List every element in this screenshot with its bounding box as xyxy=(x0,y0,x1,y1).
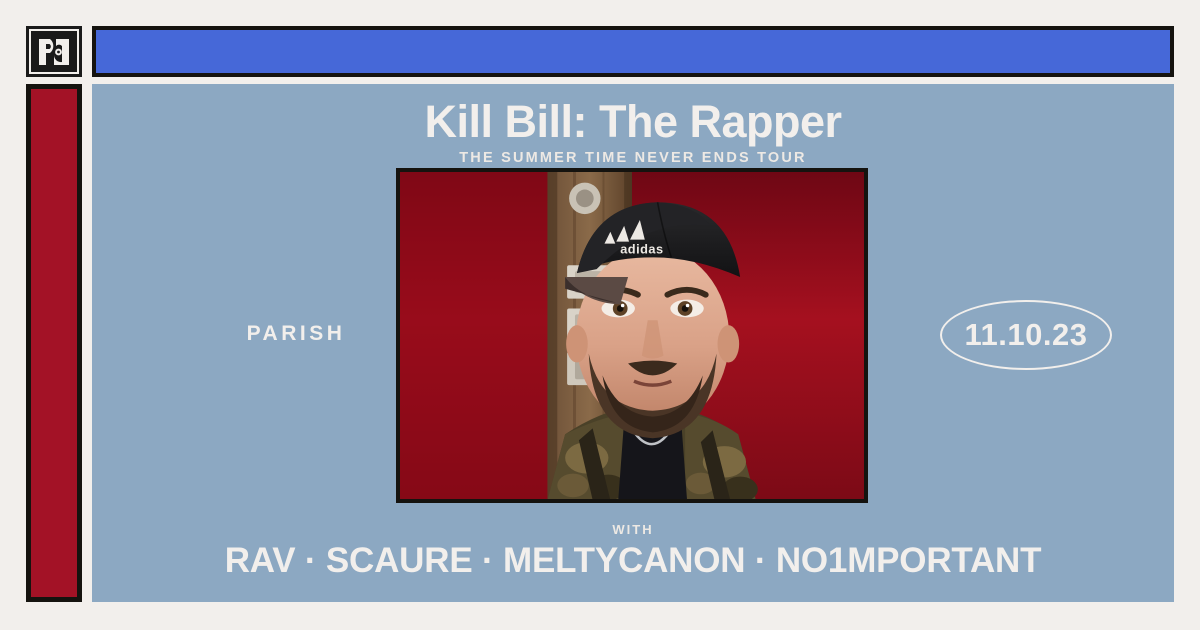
event-poster-panel: Kill Bill: The Rapper THE SUMMER TIME NE… xyxy=(92,84,1174,602)
artist-portrait-photo: adidas xyxy=(396,168,868,503)
event-date-badge: 11.10.23 xyxy=(940,300,1112,370)
left-accent-bar xyxy=(26,84,82,602)
event-date: 11.10.23 xyxy=(965,317,1088,353)
resident-advisor-logo-icon xyxy=(37,37,71,67)
with-label: WITH xyxy=(92,522,1174,537)
headline-block: Kill Bill: The Rapper THE SUMMER TIME NE… xyxy=(92,98,1174,166)
venue-name: PARISH xyxy=(196,322,396,346)
logo-inner-frame xyxy=(29,29,79,74)
header-accent-bar xyxy=(92,26,1174,77)
event-title: Kill Bill: The Rapper xyxy=(92,98,1174,145)
artist-photo-illustration: adidas xyxy=(400,172,864,499)
support-acts: RAV · SCAURE · MELTYCANON · NO1MPORTANT xyxy=(92,541,1174,581)
support-lineup-block: WITH RAV · SCAURE · MELTYCANON · NO1MPOR… xyxy=(92,522,1174,581)
tour-subtitle: THE SUMMER TIME NEVER ENDS TOUR xyxy=(92,150,1174,166)
svg-text:adidas: adidas xyxy=(620,241,663,256)
resident-advisor-logo[interactable] xyxy=(26,26,82,77)
